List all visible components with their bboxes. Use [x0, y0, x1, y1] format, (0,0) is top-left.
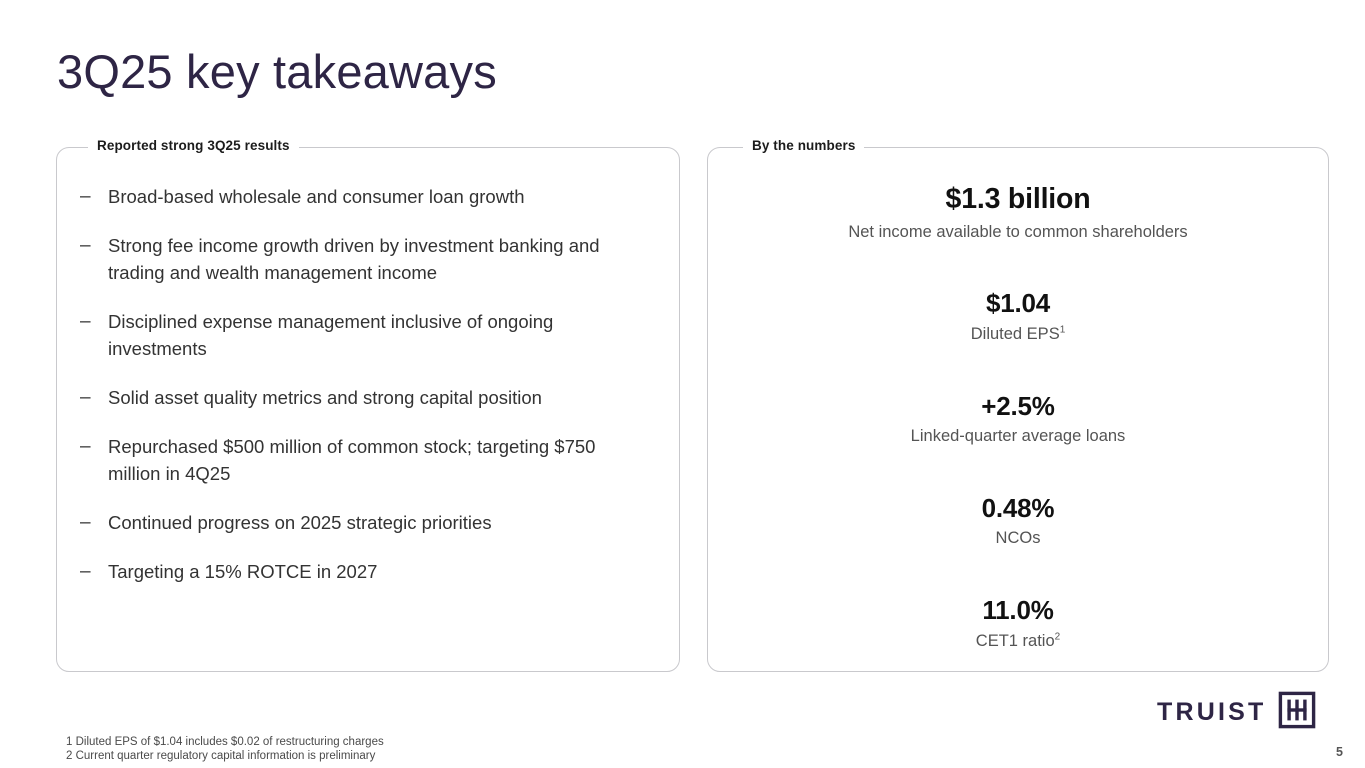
metric-value: 0.48% — [708, 492, 1328, 525]
takeaway-text: Repurchased $500 million of common stock… — [108, 433, 648, 487]
footnote-line: 2 Current quarter regulatory capital inf… — [66, 750, 384, 764]
metric-label: Net income available to common sharehold… — [708, 220, 1328, 245]
takeaway-text: Disciplined expense management inclusive… — [108, 308, 648, 362]
takeaway-item: –Strong fee income growth driven by inve… — [80, 232, 661, 286]
bullet-dash-icon: – — [80, 183, 108, 210]
metric-item: $1.3 billionNet income available to comm… — [708, 182, 1328, 244]
metric-label: Diluted EPS1 — [708, 322, 1328, 347]
bullet-dash-icon: – — [80, 232, 108, 259]
bullet-dash-icon: – — [80, 308, 108, 335]
metric-item: +2.5%Linked-quarter average loans — [708, 390, 1328, 449]
takeaway-text: Continued progress on 2025 strategic pri… — [108, 509, 492, 536]
footnotes: 1 Diluted EPS of $1.04 includes $0.02 of… — [66, 736, 384, 763]
truist-logo: TRUIST — [1157, 691, 1316, 734]
takeaway-text: Targeting a 15% ROTCE in 2027 — [108, 558, 377, 585]
takeaway-item: –Continued progress on 2025 strategic pr… — [80, 509, 661, 536]
reported-results-card: Reported strong 3Q25 results –Broad-base… — [56, 147, 680, 672]
takeaway-item: –Solid asset quality metrics and strong … — [80, 384, 661, 411]
metric-label: Linked-quarter average loans — [708, 424, 1328, 449]
takeaway-text: Broad-based wholesale and consumer loan … — [108, 183, 525, 210]
footnote-marker: 2 — [1055, 631, 1061, 642]
metric-value: $1.04 — [708, 287, 1328, 320]
takeaway-text: Solid asset quality metrics and strong c… — [108, 384, 542, 411]
footnote-line: 1 Diluted EPS of $1.04 includes $0.02 of… — [66, 736, 384, 750]
page-number: 5 — [1336, 745, 1343, 759]
metrics-list: $1.3 billionNet income available to comm… — [708, 182, 1328, 653]
takeaway-text: Strong fee income growth driven by inves… — [108, 232, 648, 286]
takeaways-list: –Broad-based wholesale and consumer loan… — [80, 183, 661, 607]
metric-item: 11.0%CET1 ratio2 — [708, 594, 1328, 653]
metric-label: NCOs — [708, 526, 1328, 551]
takeaway-item: –Repurchased $500 million of common stoc… — [80, 433, 661, 487]
metric-item: $1.04Diluted EPS1 — [708, 287, 1328, 346]
metric-item: 0.48%NCOs — [708, 492, 1328, 551]
truist-wordmark: TRUIST — [1157, 700, 1266, 725]
reported-results-legend: Reported strong 3Q25 results — [88, 139, 299, 153]
bullet-dash-icon: – — [80, 558, 108, 585]
takeaway-item: –Targeting a 15% ROTCE in 2027 — [80, 558, 661, 585]
truist-square-mark-icon — [1278, 691, 1316, 734]
bullet-dash-icon: – — [80, 509, 108, 536]
bullet-dash-icon: – — [80, 384, 108, 411]
metric-value: 11.0% — [708, 594, 1328, 627]
metric-label: CET1 ratio2 — [708, 629, 1328, 654]
page-title: 3Q25 key takeaways — [57, 46, 497, 98]
bullet-dash-icon: – — [80, 433, 108, 460]
takeaway-item: –Broad-based wholesale and consumer loan… — [80, 183, 661, 210]
takeaway-item: –Disciplined expense management inclusiv… — [80, 308, 661, 362]
footnote-marker: 1 — [1060, 324, 1066, 335]
by-the-numbers-card: By the numbers $1.3 billionNet income av… — [707, 147, 1329, 672]
by-the-numbers-legend: By the numbers — [743, 139, 864, 153]
metric-value: +2.5% — [708, 390, 1328, 423]
metric-value: $1.3 billion — [708, 182, 1328, 218]
